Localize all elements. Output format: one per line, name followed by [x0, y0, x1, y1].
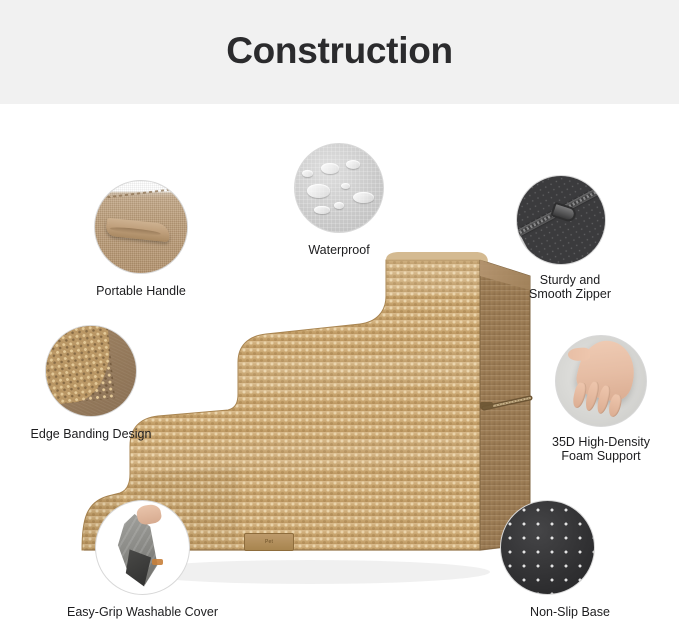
callout-label-portable-handle: Portable Handle	[96, 284, 186, 298]
callout-waterproof[interactable]: Waterproof	[294, 143, 384, 233]
callout-edge-banding-design[interactable]: Edge Banding Design	[45, 325, 137, 417]
callout-label-edge-banding-design: Edge Banding Design	[31, 427, 152, 441]
callout-sturdy-smooth-zipper[interactable]: Sturdy and Smooth Zipper	[516, 175, 606, 265]
callout-easy-grip-washable-cover[interactable]: Easy-Grip Washable Cover	[95, 500, 190, 595]
portable-handle-icon	[94, 180, 188, 274]
edge-banding-icon	[45, 325, 137, 417]
callout-label-easy-grip-washable-cover: Easy-Grip Washable Cover	[67, 605, 218, 619]
callout-label-line-2: Foam Support	[552, 449, 650, 463]
callout-portable-handle[interactable]: Portable Handle	[94, 180, 188, 274]
zipper-icon	[516, 175, 606, 265]
callout-label-sturdy-smooth-zipper: Sturdy and Smooth Zipper	[529, 273, 611, 301]
washable-cover-icon	[95, 500, 190, 595]
callout-label-non-slip-base: Non-Slip Base	[530, 605, 610, 619]
brand-tag: Pet	[244, 533, 294, 551]
callout-label-line-1: 35D High-Density	[552, 435, 650, 449]
callout-foam-support[interactable]: 35D High-Density Foam Support	[555, 335, 647, 427]
infographic-page: Construction	[0, 0, 679, 627]
callout-label-waterproof: Waterproof	[308, 243, 369, 257]
callout-label-line-2: Smooth Zipper	[529, 287, 611, 301]
non-slip-base-icon	[500, 500, 595, 595]
callout-non-slip-base[interactable]: Non-Slip Base	[500, 500, 595, 595]
page-title: Construction	[0, 30, 679, 72]
callout-label-line-1: Sturdy and	[529, 273, 611, 287]
foam-support-icon	[555, 335, 647, 427]
callout-label-foam-support: 35D High-Density Foam Support	[552, 435, 650, 463]
waterproof-icon	[294, 143, 384, 233]
